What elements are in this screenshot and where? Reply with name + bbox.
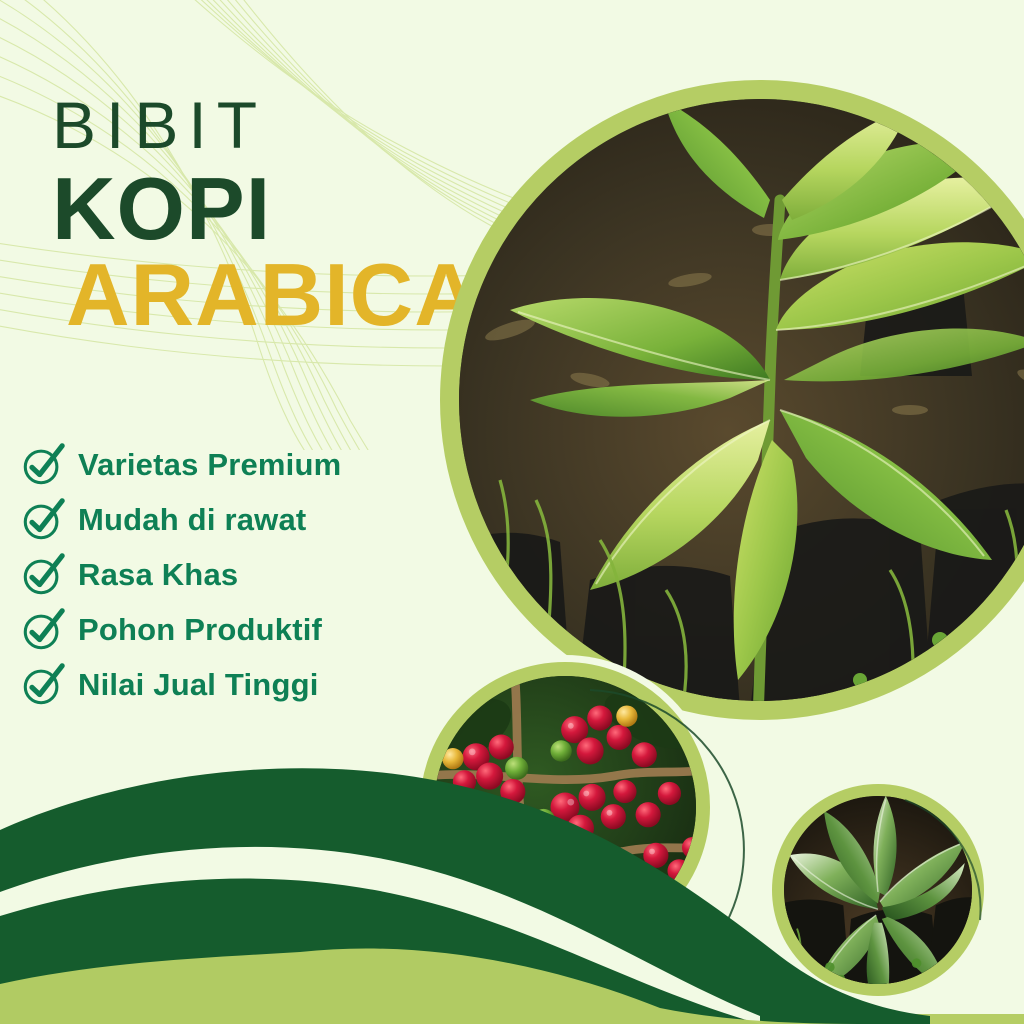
headline-arabica: ARABICA bbox=[66, 250, 512, 340]
check-circle-icon bbox=[20, 552, 66, 598]
list-item[interactable]: Varietas Premium bbox=[20, 437, 460, 492]
coffee-cherries-photo-art bbox=[420, 662, 710, 952]
check-circle-icon bbox=[20, 607, 66, 653]
list-item[interactable]: Mudah di rawat bbox=[20, 492, 460, 547]
poster-canvas: BIBIT KOPI ARABICA bbox=[0, 0, 1024, 1024]
feature-list: Varietas Premium Mudah di rawat Rasa Kha… bbox=[20, 437, 460, 712]
list-item[interactable]: Nilai Jual Tinggi bbox=[20, 657, 460, 712]
check-circle-icon bbox=[20, 442, 66, 488]
coffee-plant-photo bbox=[440, 80, 1024, 720]
coffee-seedling-photo-art bbox=[772, 784, 984, 996]
feature-label: Rasa Khas bbox=[78, 557, 238, 593]
feature-label: Pohon Produktif bbox=[78, 612, 322, 648]
coffee-seedling-photo bbox=[772, 784, 984, 996]
headline-block: BIBIT KOPI ARABICA bbox=[52, 92, 512, 340]
coffee-cherries-photo bbox=[420, 662, 710, 952]
check-circle-icon bbox=[20, 662, 66, 708]
feature-label: Mudah di rawat bbox=[78, 502, 306, 538]
coffee-plant-photo-art bbox=[440, 80, 1024, 720]
headline-bibit: BIBIT bbox=[52, 92, 512, 158]
feature-label: Varietas Premium bbox=[78, 447, 341, 483]
list-item[interactable]: Rasa Khas bbox=[20, 547, 460, 602]
headline-kopi: KOPI bbox=[52, 164, 512, 254]
list-item[interactable]: Pohon Produktif bbox=[20, 602, 460, 657]
check-circle-icon bbox=[20, 497, 66, 543]
feature-label: Nilai Jual Tinggi bbox=[78, 667, 319, 703]
